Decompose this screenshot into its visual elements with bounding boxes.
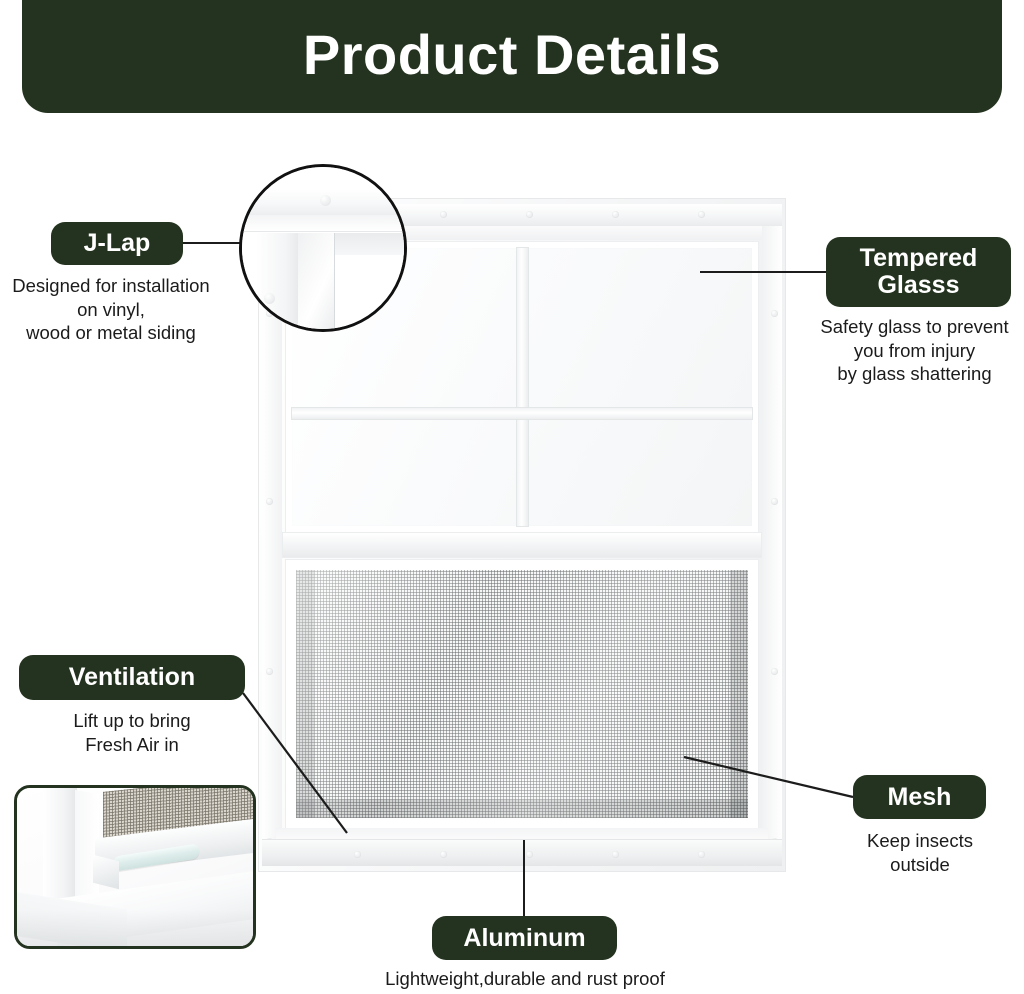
caption-j-lap: Designed for installation on vinyl, wood…	[0, 274, 222, 345]
inset-frame-left	[43, 785, 77, 915]
badge-mesh[interactable]: Mesh	[853, 775, 986, 819]
inset-shadow	[17, 910, 253, 946]
product-details-infographic: Product Details	[0, 0, 1024, 994]
badge-j-lap-label: J-Lap	[84, 230, 151, 257]
badge-j-lap[interactable]: J-Lap	[51, 222, 183, 265]
badge-tempered-glass[interactable]: Tempered Glasss	[826, 237, 1011, 307]
jlap-magnifier-circle-icon	[239, 164, 407, 332]
ventilation-photo-inset	[14, 785, 256, 949]
screw-hole	[320, 195, 331, 206]
badge-ventilation[interactable]: Ventilation	[19, 655, 245, 700]
magnified-frame-corner	[242, 167, 404, 329]
caption-ventilation: Lift up to bring Fresh Air in	[19, 709, 245, 756]
leader-line-ventilation	[243, 693, 347, 833]
badge-mesh-label: Mesh	[888, 784, 952, 811]
badge-aluminum-label: Aluminum	[463, 925, 585, 952]
magnified-jamb	[256, 233, 299, 332]
magnified-jlap-bevel	[298, 233, 335, 332]
badge-tempered-glass-label: Tempered Glasss	[860, 245, 978, 299]
leader-line-mesh	[684, 757, 853, 797]
magnified-top-rail-inner	[239, 215, 407, 232]
caption-mesh: Keep insects outside	[840, 829, 1000, 876]
screw-hole	[264, 293, 275, 304]
caption-tempered-glass: Safety glass to prevent you from injury …	[805, 315, 1024, 386]
caption-aluminum: Lightweight,durable and rust proof	[345, 967, 705, 991]
badge-aluminum[interactable]: Aluminum	[432, 916, 617, 960]
badge-ventilation-label: Ventilation	[69, 664, 195, 691]
